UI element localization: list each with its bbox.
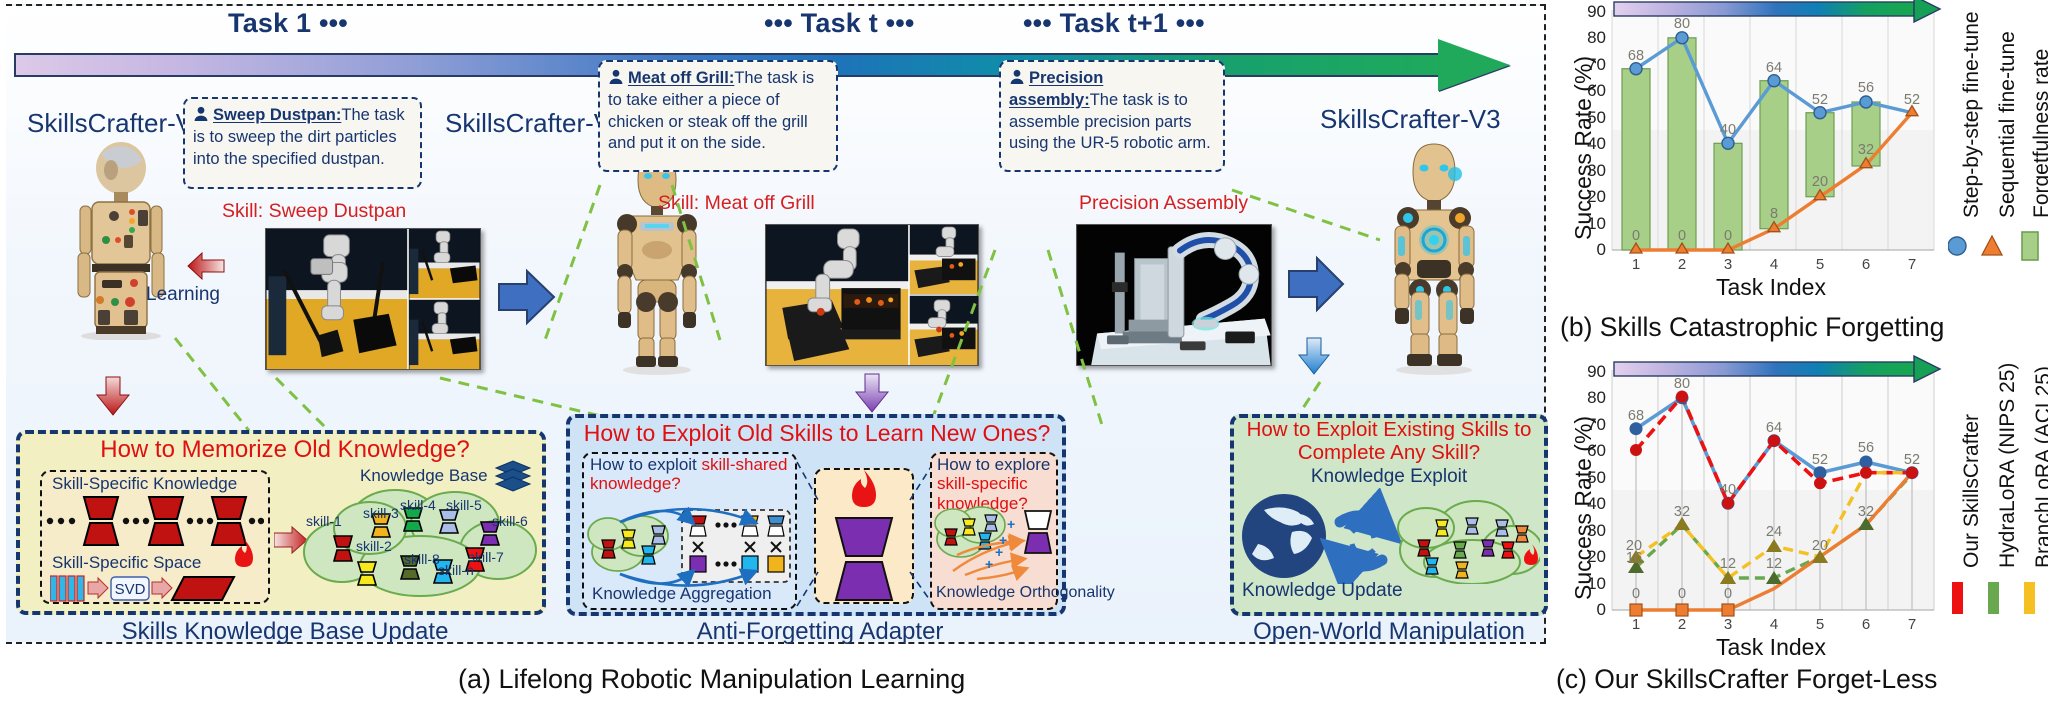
skill-5-label: skill-5 <box>446 497 482 513</box>
task-label-t: ••• Task t ••• <box>764 8 915 39</box>
panel-a-lifelong-learning: Task 1 ••• ••• Task t ••• ••• Task t+1 •… <box>0 0 1556 705</box>
legend-swatch-branchlora <box>2024 582 2035 614</box>
flame-icon <box>230 538 256 568</box>
robot-v2-image <box>602 150 712 375</box>
chart-c-xlabel: Task Index <box>1716 634 1826 661</box>
figure-root: Task 1 ••• ••• Task t ••• ••• Task t+1 •… <box>0 0 2048 705</box>
skill-n-label: skill-n <box>438 562 474 578</box>
knowledge-update-label: Knowledge Update <box>1242 580 1403 602</box>
chart-c-ytick-70: 70 <box>1566 415 1606 435</box>
skill-photo-sweep-dustpan <box>265 228 481 370</box>
chart-b-xtick-6: 6 <box>1852 256 1880 273</box>
skill-photo-precision-assembly <box>1076 224 1272 366</box>
chart-c-label-32b: 32 <box>1850 504 1882 520</box>
knowledge-base-label: Knowledge Base <box>360 466 488 486</box>
person-icon <box>193 106 209 122</box>
chart-c-label-40: 40 <box>1712 482 1744 498</box>
chart-b-top-label-7: 52 <box>1898 92 1926 108</box>
openworld-question: How to Exploit Existing Skills to Comple… <box>1236 419 1542 465</box>
chart-c-legend-label-1: Our SkillsCrafter <box>1960 414 1984 568</box>
chart-b-xtick-7: 7 <box>1898 256 1926 273</box>
knowledge-orthogonality-diagram: ++++ <box>933 495 1055 587</box>
chart-b-xtick-3: 3 <box>1714 256 1742 273</box>
exploit-question: How to Exploit Old Skills to Learn New O… <box>572 420 1062 447</box>
left-question-text: How to exploit skill-shared knowledge? <box>590 455 790 494</box>
chart-c-xtick-2: 2 <box>1668 616 1696 633</box>
chart-b-bot-label-4: 8 <box>1760 206 1788 222</box>
legend-circle-marker <box>1948 237 1966 255</box>
chart-c-legend-label-2: HydraLoRA (NIPS 25) <box>1996 363 2020 568</box>
chart-b-legend-label-1: Step-by-step fine-tune <box>1960 11 1984 218</box>
learning-label: Learning <box>146 284 220 306</box>
chart-b-legend-label-3: Forgetfulness rate <box>2030 49 2048 218</box>
chart-c-ytick-40: 40 <box>1566 494 1606 514</box>
robot-v3-image <box>1375 140 1493 375</box>
openworld-caption: Open-World Manipulation <box>1230 618 1548 646</box>
chart-c-xtick-7: 7 <box>1898 616 1926 633</box>
chart-b-ytick-40: 40 <box>1566 134 1606 154</box>
chart-c-ytick-30: 30 <box>1566 521 1606 541</box>
skill-title-1: Skill: Sweep Dustpan <box>222 200 406 223</box>
chart-b-ytick-70: 70 <box>1566 55 1606 75</box>
chart-c-label-80: 80 <box>1666 376 1698 392</box>
chart-b-legend-markers <box>1948 228 2048 264</box>
skill-photo-meat-off-grill <box>765 224 979 366</box>
chart-b-xtick-4: 4 <box>1760 256 1788 273</box>
legend-bar-marker <box>2022 232 2038 260</box>
svg-text:+: + <box>995 544 1003 560</box>
skill-title-2: Skill: Meat off Grill <box>658 192 815 215</box>
skill-title-3: Precision Assembly <box>1079 192 1248 215</box>
chart-c-label-68: 68 <box>1620 408 1652 424</box>
down-arrow-purple-icon <box>854 372 890 414</box>
chart-c-label-52a: 52 <box>1804 452 1836 468</box>
chart-b-top-label-2: 80 <box>1668 16 1696 32</box>
chart-c-xtick-1: 1 <box>1622 616 1650 633</box>
svg-text:SVD: SVD <box>115 581 146 598</box>
chart-c-label-0c: 0 <box>1712 586 1744 602</box>
svd-pipeline: SVD <box>50 574 260 604</box>
memorize-question: How to Memorize Old Knowledge? <box>40 436 530 464</box>
chart-b-bot-label-3: 0 <box>1714 228 1742 244</box>
down-arrow-blue-icon <box>1297 336 1331 376</box>
knowledge-aggregation-diagram <box>586 496 794 588</box>
chart-c-ytick-90: 90 <box>1566 362 1606 382</box>
left-question-a: How to exploit <box>590 455 702 474</box>
chart-b-ytick-60: 60 <box>1566 81 1606 101</box>
chart-b-xtick-1: 1 <box>1622 256 1650 273</box>
chart-b-ytick-50: 50 <box>1566 108 1606 128</box>
chart-c-xtick-5: 5 <box>1806 616 1834 633</box>
version-title-v1: SkillsCrafter-V1 <box>27 108 208 139</box>
knowledge-orthogonality-caption: Knowledge Orthogonality <box>936 584 1115 602</box>
exploit-caption: Anti-Forgetting Adapter <box>640 618 1000 646</box>
chart-b-legend-label-2: Sequential fine-tune <box>1996 31 2020 218</box>
chart-b-top-label-4: 64 <box>1760 60 1788 76</box>
legend-triangle-marker <box>1982 236 2002 255</box>
timeline-arrow-head <box>1438 39 1510 91</box>
skill-4-label: skill-4 <box>400 497 436 513</box>
task-label-t-plus-1: ••• Task t+1 ••• <box>1023 8 1205 39</box>
chart-c-label-12a: 12 <box>1712 556 1744 572</box>
chart-c-label-56: 56 <box>1850 440 1882 456</box>
person-icon <box>608 69 624 85</box>
skill-1-label: skill-1 <box>306 513 342 529</box>
version-title-v3: SkillsCrafter-V3 <box>1320 104 1501 135</box>
legend-swatch-ours <box>1952 582 1963 614</box>
chart-c-label-32a: 32 <box>1666 504 1698 520</box>
chart-c-label-0b: 0 <box>1666 586 1698 602</box>
skill-6-label: skill-6 <box>492 513 528 529</box>
task-label-1: Task 1 ••• <box>228 8 348 39</box>
skill-3-label: skill-3 <box>363 505 399 521</box>
learning-arrow-icon <box>186 250 226 282</box>
skill-2-label: skill-2 <box>356 538 392 554</box>
chart-b-ytick-10: 10 <box>1566 214 1606 234</box>
chart-b-bot-label-5: 20 <box>1806 174 1834 190</box>
chart-b-top-label-6: 56 <box>1852 80 1880 96</box>
instruction-callout-3: Precision assembly:The task is to assemb… <box>999 60 1225 172</box>
chart-b-xlabel: Task Index <box>1716 274 1826 301</box>
chart-c-caption: (c) Our SkillsCrafter Forget-Less <box>1556 664 1937 695</box>
chart-b-xtick-5: 5 <box>1806 256 1834 273</box>
chart-b-ytick-80: 80 <box>1566 28 1606 48</box>
memorize-caption: Skills Knowledge Base Update <box>70 618 500 646</box>
svg-text:+: + <box>1007 516 1015 532</box>
chart-c-our-skillscrafter-forget-less: Success Rate (%) <box>1556 352 2048 705</box>
chart-b-ytick-20: 20 <box>1566 187 1606 207</box>
chart-b-bot-label-2: 0 <box>1668 228 1696 244</box>
chart-b-xtick-2: 2 <box>1668 256 1696 273</box>
panel-a-caption: (a) Lifelong Robotic Manipulation Learni… <box>458 664 965 695</box>
callout-2-title: Meat off Grill: <box>628 69 734 87</box>
chart-c-ytick-50: 50 <box>1566 468 1606 488</box>
right-arrow-blue-icon-1 <box>497 268 557 326</box>
chart-b-ytick-30: 30 <box>1566 161 1606 181</box>
instruction-callout-2: Meat off Grill:The task is to take eithe… <box>598 60 838 172</box>
chart-c-label-52b: 52 <box>1896 452 1928 468</box>
chart-b-top-label-3: 40 <box>1714 122 1742 138</box>
skill-specific-knowledge-label: Skill-Specific Knowledge <box>52 474 237 494</box>
chart-c-label-64: 64 <box>1758 420 1790 436</box>
robot-v1-image <box>62 140 180 340</box>
chart-c-label-16: 16 <box>1618 550 1650 566</box>
chart-c-label-20b: 20 <box>1804 538 1836 554</box>
chart-b-caption: (b) Skills Catastrophic Forgetting <box>1560 312 1944 343</box>
chart-b-top-label-5: 52 <box>1806 92 1834 108</box>
chart-c-xtick-3: 3 <box>1714 616 1742 633</box>
svg-text:+: + <box>985 556 993 572</box>
chart-b-bot-label-1: 0 <box>1622 228 1650 244</box>
person-icon <box>1009 69 1025 85</box>
chart-b-top-label-1: 68 <box>1622 48 1650 64</box>
chart-c-xtick-4: 4 <box>1760 616 1788 633</box>
chart-c-legend-label-3: BranchLoRA (ACL25) <box>2032 366 2048 568</box>
chart-c-label-12b: 12 <box>1758 556 1790 572</box>
chart-b-ytick-0: 0 <box>1566 240 1606 260</box>
callout-1-title: Sweep Dustpan: <box>213 106 341 124</box>
chart-c-ytick-80: 80 <box>1566 388 1606 408</box>
down-arrow-red-icon <box>95 375 131 417</box>
chart-c-ytick-10: 10 <box>1566 574 1606 594</box>
skill-specific-space-label: Skill-Specific Space <box>52 553 201 573</box>
legend-swatch-hydralora <box>1988 582 1999 614</box>
chart-c-ytick-0: 0 <box>1566 600 1606 620</box>
chart-b-ytick-90: 90 <box>1566 2 1606 22</box>
knowledge-aggregation-caption: Knowledge Aggregation <box>592 584 772 604</box>
chart-c-label-0a: 0 <box>1620 586 1652 602</box>
chart-c-xtick-6: 6 <box>1852 616 1880 633</box>
chart-b-bot-label-6: 32 <box>1852 142 1880 158</box>
chart-c-label-24: 24 <box>1758 524 1790 540</box>
purple-adapter-icon <box>822 464 906 606</box>
chart-b-skills-catastrophic-forgetting: Success Rate (%) <box>1556 0 2048 352</box>
chart-c-ytick-60: 60 <box>1566 441 1606 461</box>
knowledge-exploit-label: Knowledge Exploit <box>1236 466 1542 488</box>
chart-c-legend-markers <box>1948 580 2048 616</box>
instruction-callout-1: Sweep Dustpan:The task is to sweep the d… <box>183 97 422 189</box>
chart-c-ytick-20: 20 <box>1566 547 1606 567</box>
right-arrow-blue-icon-2 <box>1287 255 1345 313</box>
open-world-diagram <box>1240 488 1540 584</box>
right-question-a: How to explore <box>937 455 1050 474</box>
skill-8-label: skill-8 <box>404 551 440 567</box>
